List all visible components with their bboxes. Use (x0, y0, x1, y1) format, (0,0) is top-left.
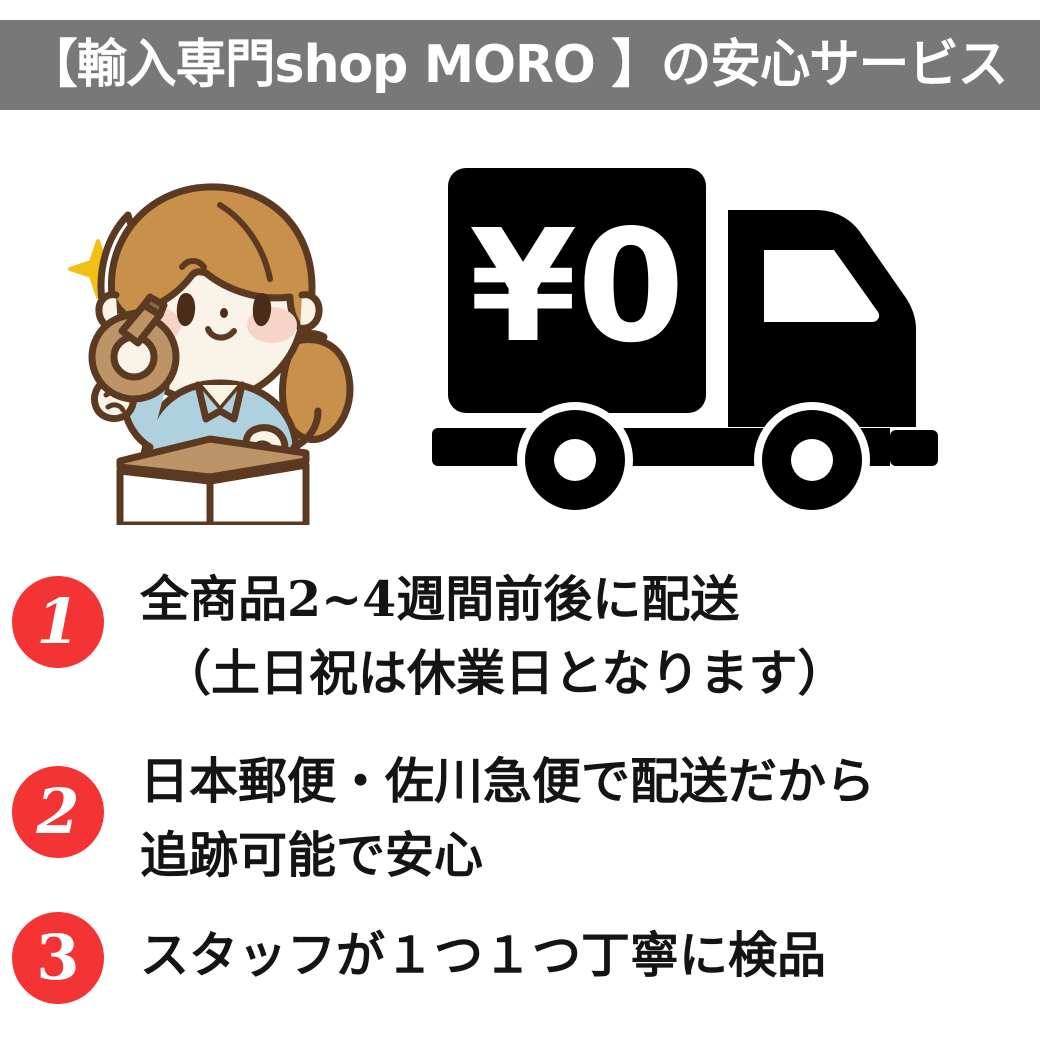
free-shipping-truck-illustration: ¥0 (420, 140, 1000, 525)
service-text-2-line-1: 日本郵便・佐川急便で配送だから (140, 744, 875, 818)
service-text-1-line-1: 全商品2~4週間前後に配送 (140, 562, 847, 636)
truck-wheel-front (517, 402, 633, 518)
service-number-badge-3: 3 (12, 912, 104, 1004)
free-shipping-label: ¥0 (469, 196, 685, 377)
truck-wheel-rear (754, 402, 870, 518)
page-title: 【輸入専門shop MORO 】の安心サービス (0, 20, 1007, 110)
service-text-3-line-1: スタッフが１つ１つ丁寧に検品 (140, 918, 826, 992)
service-number-badge-1: 1 (12, 576, 104, 668)
header-banner: 【輸入専門shop MORO 】の安心サービス (0, 20, 1040, 110)
truck-bumper (890, 430, 938, 466)
illustration-area: ¥0 (0, 130, 1040, 540)
service-text-2: 日本郵便・佐川急便で配送だから 追跡可能で安心 (140, 744, 875, 892)
service-text-1-line-2: （土日祝は休業日となります） (140, 636, 847, 710)
service-text-1: 全商品2~4週間前後に配送 （土日祝は休業日となります） (140, 562, 847, 710)
service-number-badge-2: 2 (12, 766, 104, 858)
service-info-graphic: 【輸入専門shop MORO 】の安心サービス (0, 0, 1040, 1040)
staff-inspecting-package-illustration (50, 145, 390, 525)
service-text-3: スタッフが１つ１つ丁寧に検品 (140, 918, 826, 992)
service-text-2-line-2: 追跡可能で安心 (140, 818, 875, 892)
